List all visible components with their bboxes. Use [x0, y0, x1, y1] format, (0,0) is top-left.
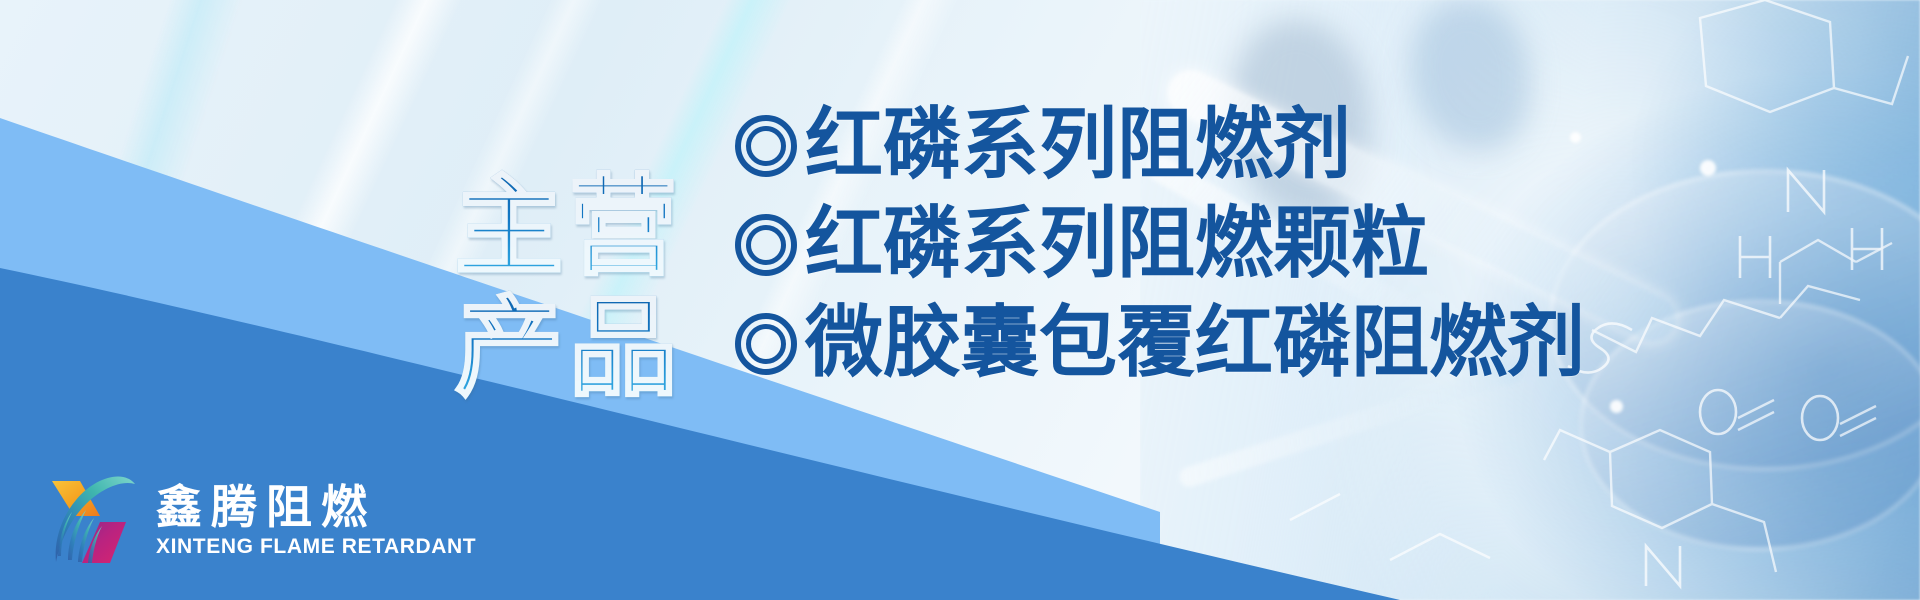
- company-logo[interactable]: 鑫腾阻燃 XINTENG FLAME RETARDANT: [38, 468, 476, 572]
- title-char-zhu: 主: [455, 168, 563, 287]
- product-label: 红磷系列阻燃颗粒: [805, 204, 1429, 285]
- title-char-chan: 产: [455, 289, 563, 408]
- product-label: 微胶囊包覆红磷阻燃剂: [805, 303, 1585, 384]
- product-list: 红磷系列阻燃剂 红磷系列阻燃颗粒 微胶囊包覆红磷阻燃剂: [735, 105, 1585, 384]
- logo-wordmark: 鑫腾阻燃 XINTENG FLAME RETARDANT: [156, 482, 476, 558]
- logo-name-en: XINTENG FLAME RETARDANT: [156, 535, 476, 558]
- title-char-pin: 品: [569, 289, 677, 408]
- double-circle-bullet-icon: [735, 214, 797, 276]
- double-circle-bullet-icon: [735, 115, 797, 177]
- double-circle-bullet-icon: [735, 313, 797, 375]
- xinteng-x-mark-icon: [38, 468, 142, 572]
- title-char-ying: 营: [569, 168, 677, 287]
- product-label: 红磷系列阻燃剂: [805, 105, 1351, 186]
- product-list-item: 红磷系列阻燃剂: [735, 105, 1585, 186]
- product-list-item: 红磷系列阻燃颗粒: [735, 204, 1585, 285]
- product-list-item: 微胶囊包覆红磷阻燃剂: [735, 303, 1585, 384]
- main-products-title: 主 营 产 品: [455, 168, 655, 408]
- product-banner: 主 营 产 品 红磷系列阻燃剂 红磷系列阻燃颗粒 微胶囊包覆红磷阻燃剂: [0, 0, 1920, 600]
- logo-name-cn: 鑫腾阻燃: [156, 482, 476, 533]
